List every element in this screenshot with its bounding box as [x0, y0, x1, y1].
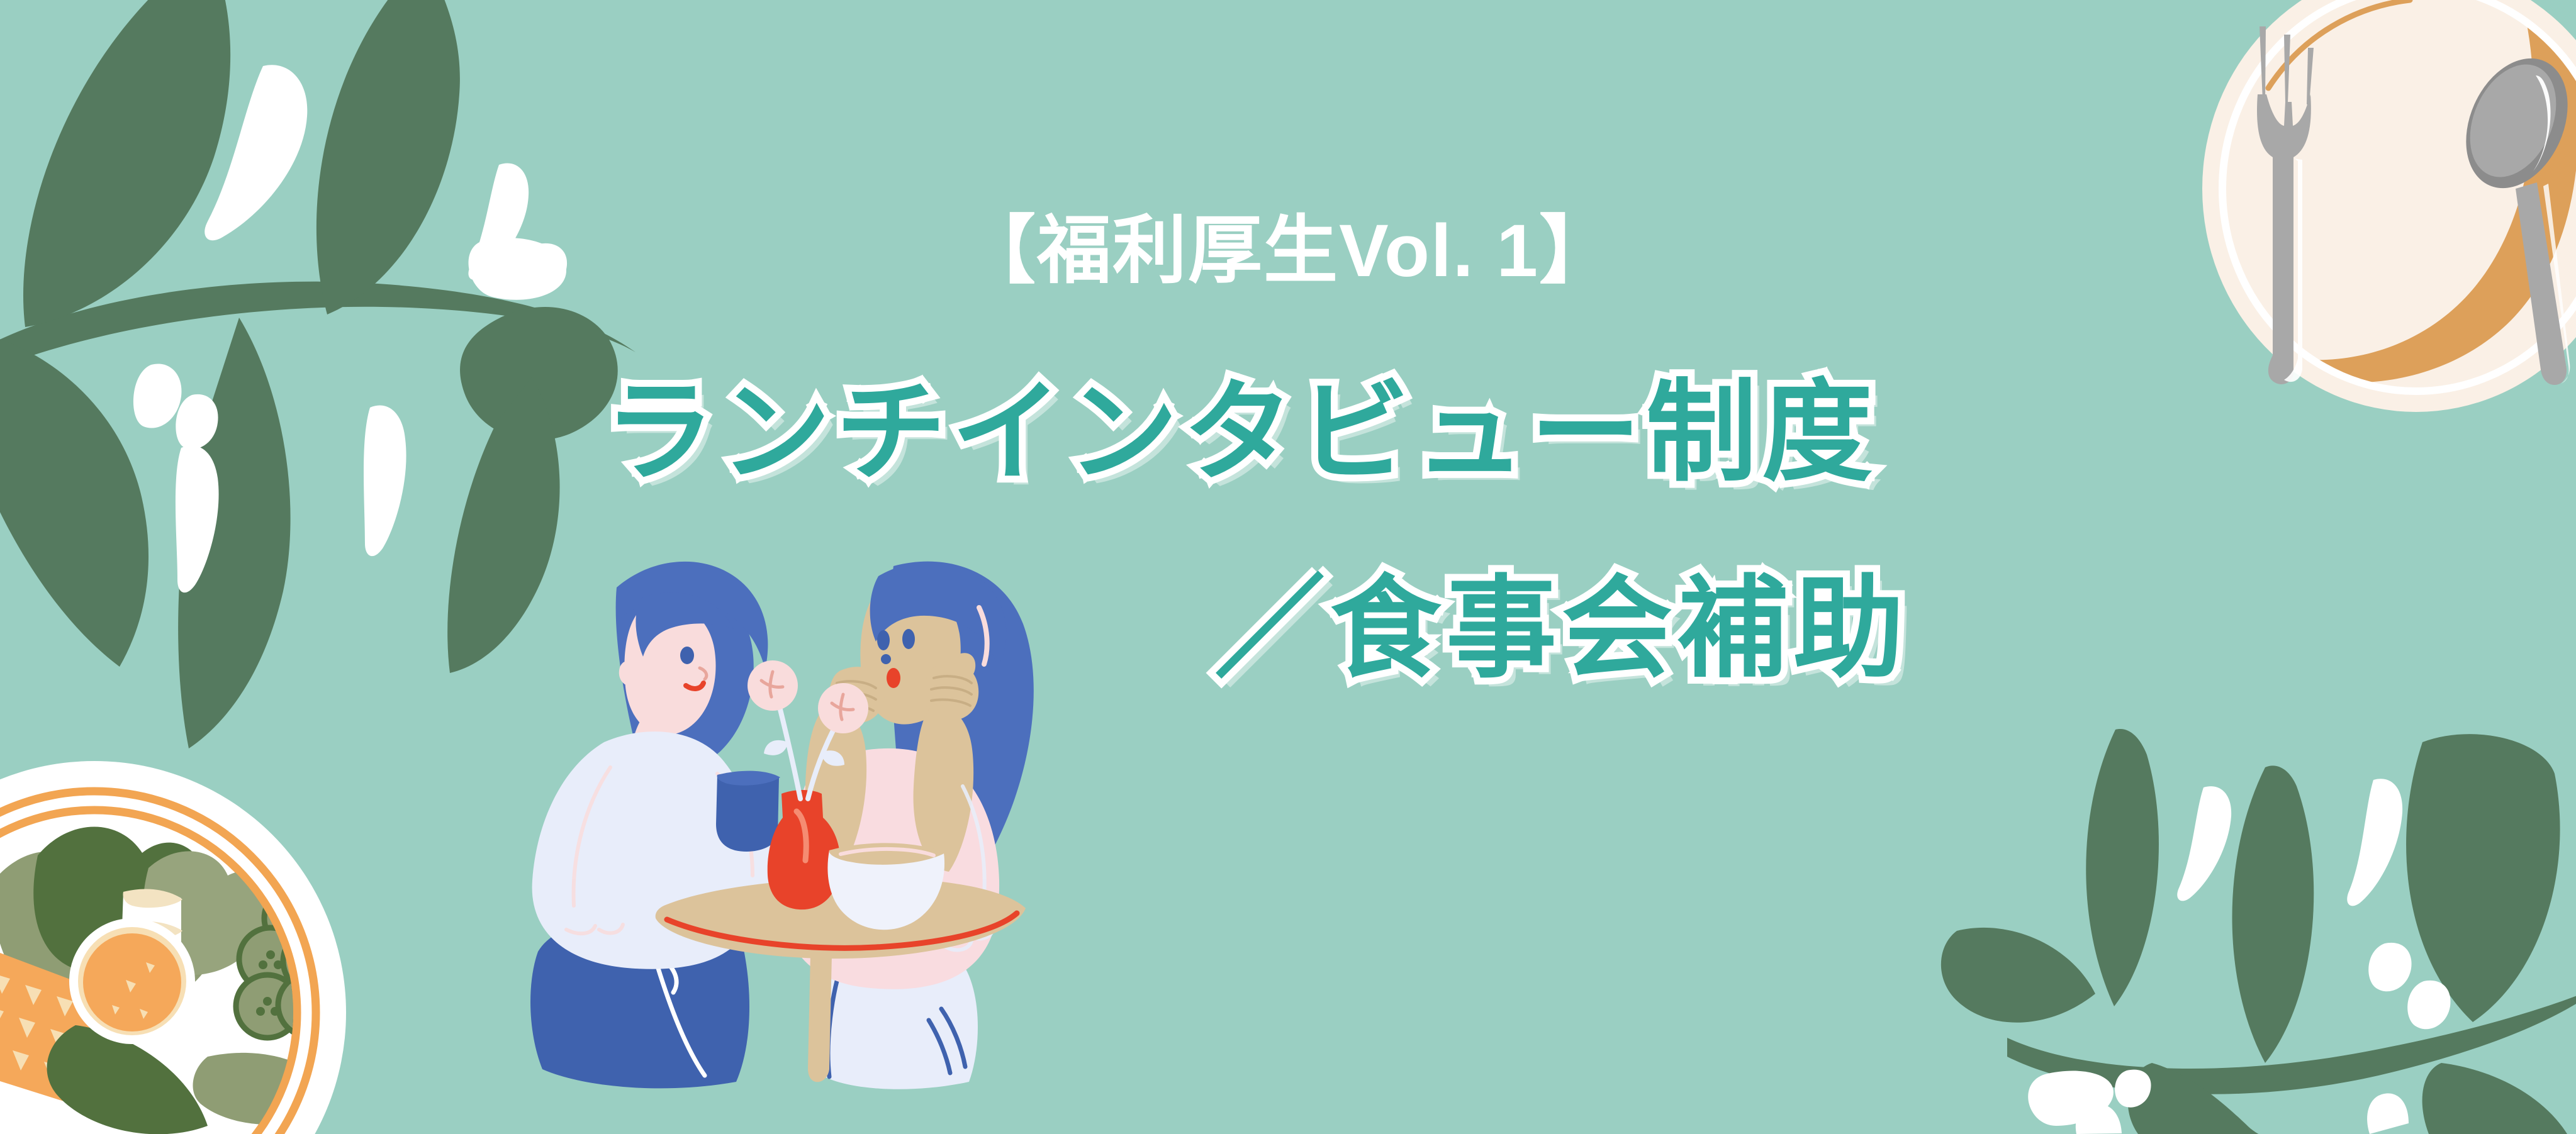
lunch-interview-banner: 【福利厚生Vol. 1】 ランチインタビュー制度 ／食事会補助	[0, 0, 2576, 1134]
banner-text-block: 【福利厚生Vol. 1】 ランチインタビュー制度 ／食事会補助	[0, 0, 2576, 1134]
banner-title-line-2: ／食事会補助	[1214, 574, 1909, 684]
banner-subtitle: 【福利厚生Vol. 1】	[0, 214, 2576, 288]
banner-title-line-1: ランチインタビュー制度	[604, 377, 1878, 488]
